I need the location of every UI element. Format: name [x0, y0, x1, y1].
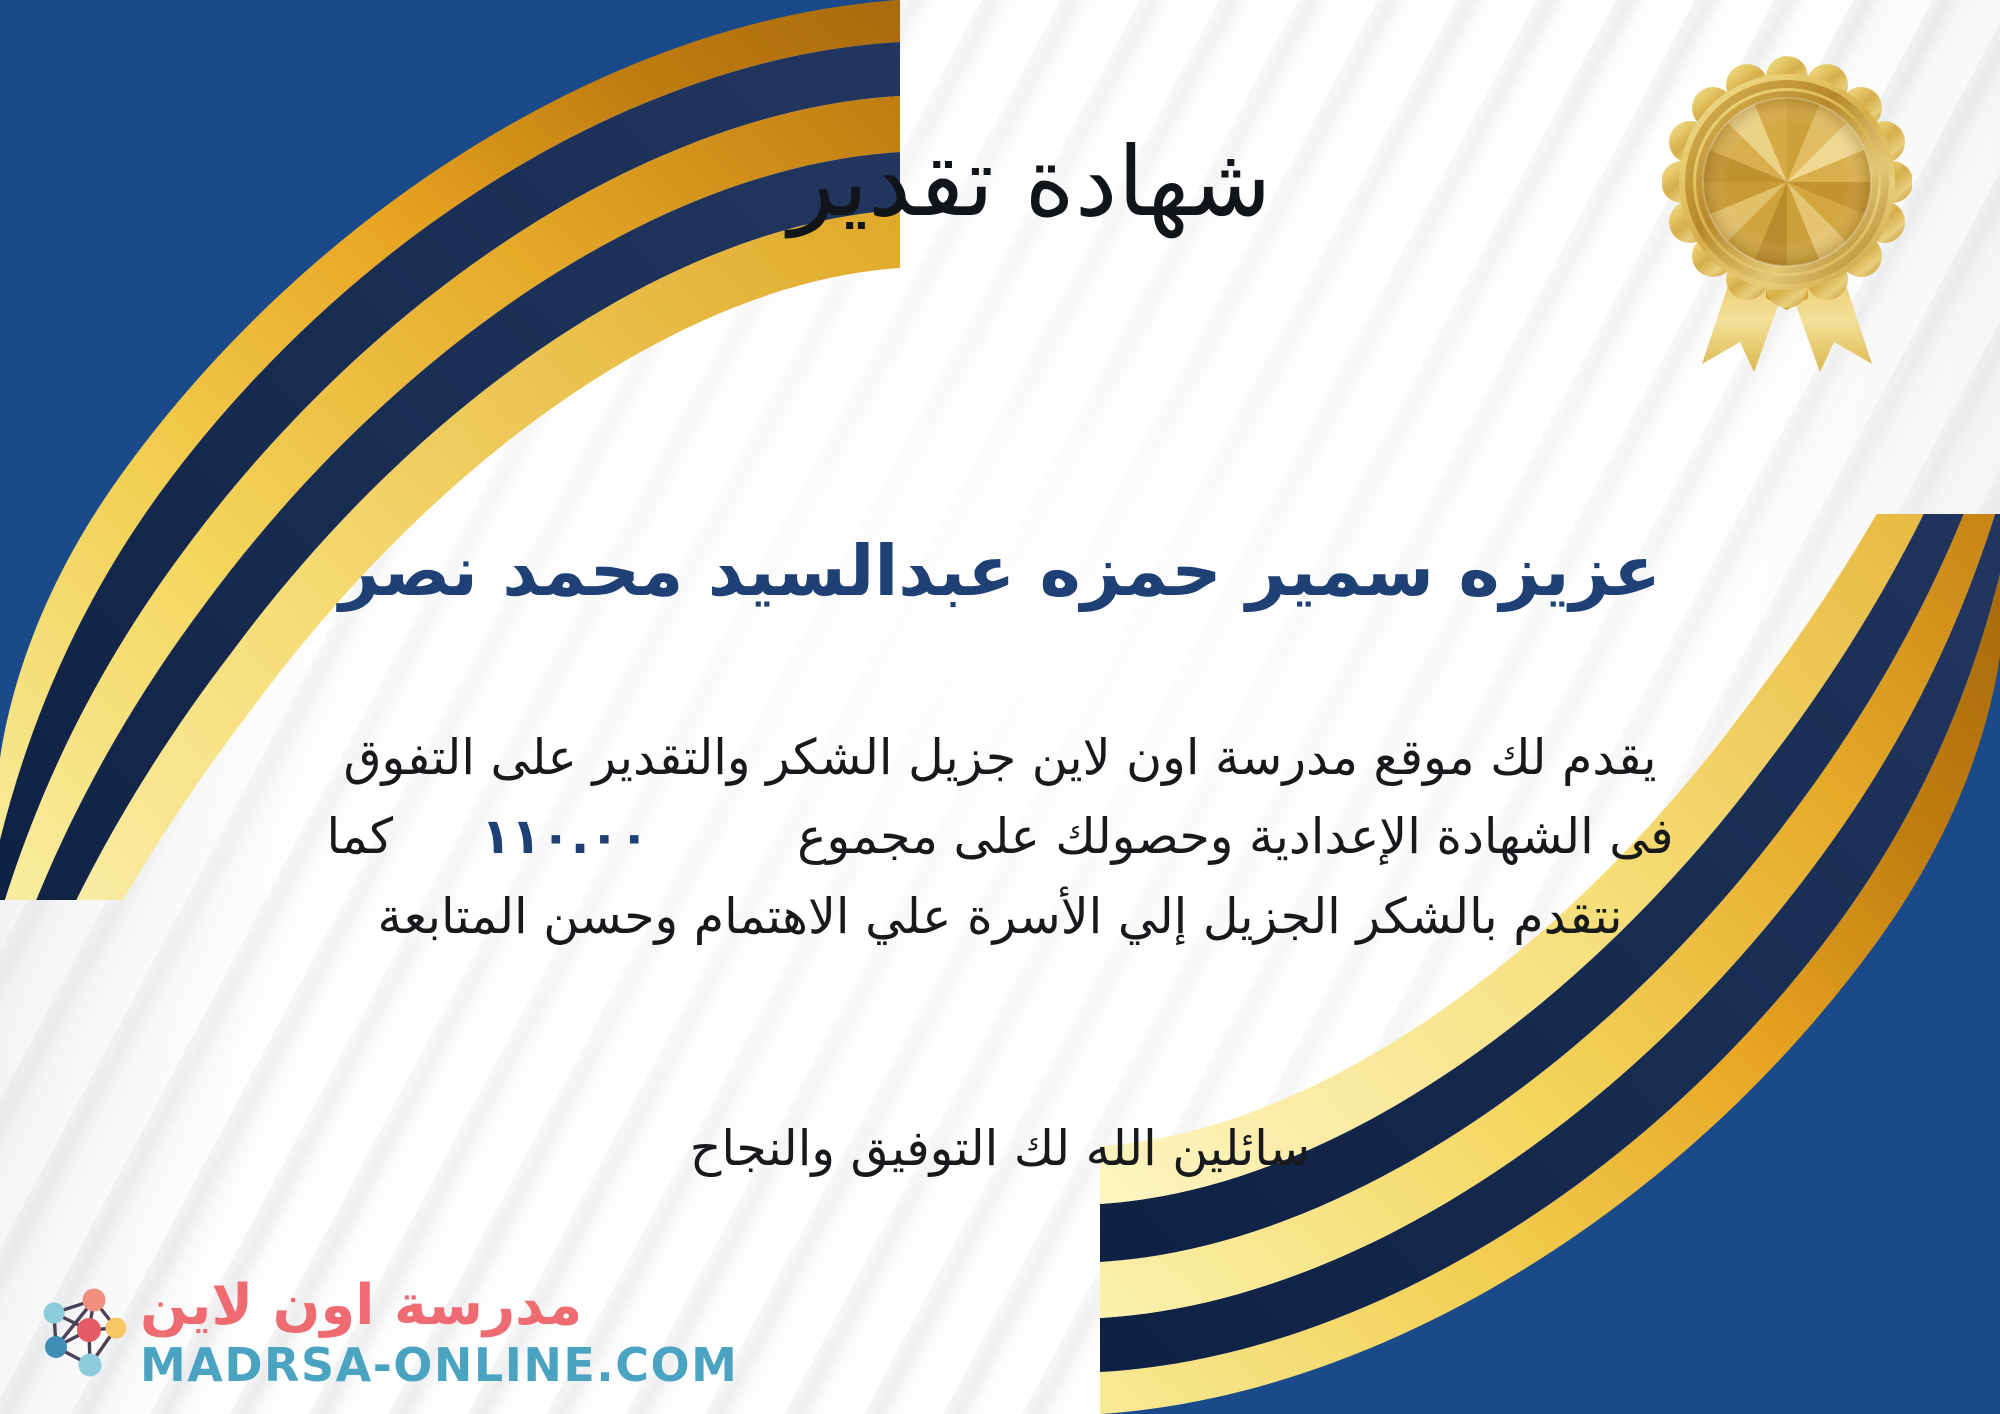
brand-text: مدرسة اون لاين MADRSA-ONLINE.COM [140, 1278, 738, 1388]
page-title: شهادة تقدير [0, 130, 2000, 236]
body-line-2-suffix: كما [326, 808, 393, 865]
closing-line: سائلين الله لك التوفيق والنجاح [0, 1112, 2000, 1186]
body-line-3: نتقدم بالشكر الجزيل إلي الأسرة علي الاهت… [120, 877, 1880, 956]
network-nodes-icon [34, 1283, 126, 1383]
certificate-body: يقدم لك موقع مدرسة اون لاين جزيل الشكر و… [120, 718, 1880, 956]
body-line-2-prefix: فى الشهادة الإعدادية وحصولك على مجموع [797, 808, 1673, 865]
brand-name-arabic: مدرسة اون لاين [140, 1278, 582, 1334]
brand-logo[interactable]: مدرسة اون لاين MADRSA-ONLINE.COM [34, 1278, 738, 1388]
score-value: ١١٠.٠٠ [453, 808, 677, 865]
certificate-canvas: شهادة تقدير عزيزه سمير حمزه عبدالسيد محم… [0, 0, 2000, 1414]
recipient-name: عزيزه سمير حمزه عبدالسيد محمد نصر [0, 528, 2000, 616]
certificate-content: شهادة تقدير عزيزه سمير حمزه عبدالسيد محم… [0, 0, 2000, 1414]
body-line-2: فى الشهادة الإعدادية وحصولك على مجموع١١٠… [120, 797, 1880, 876]
body-line-1: يقدم لك موقع مدرسة اون لاين جزيل الشكر و… [120, 718, 1880, 797]
brand-url[interactable]: MADRSA-ONLINE.COM [140, 1342, 738, 1388]
